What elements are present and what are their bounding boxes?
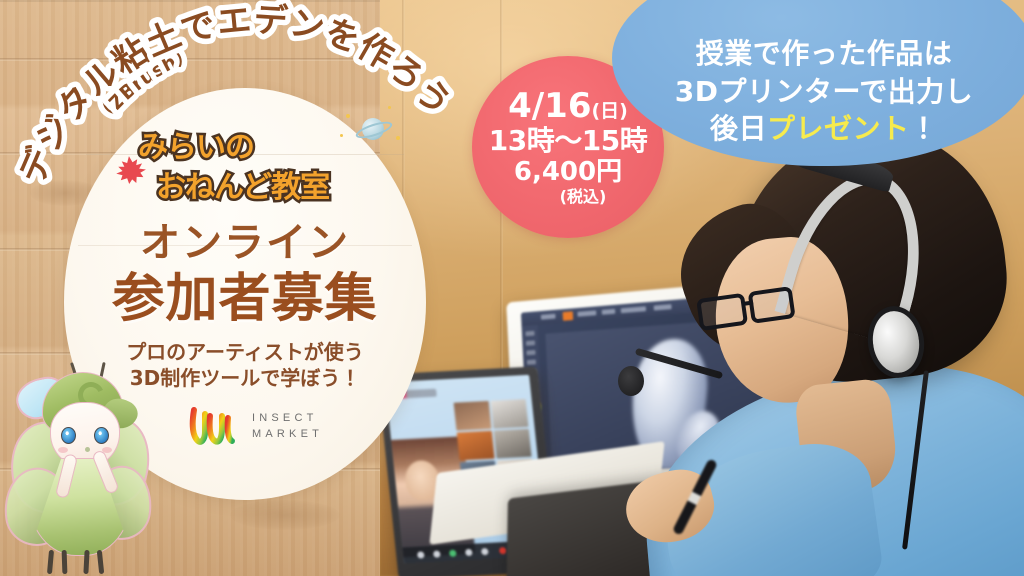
headline-recruitment: 参加者募集 <box>64 256 426 331</box>
badge-tax-note: (税込) <box>560 188 607 206</box>
bubble-line-3-prefix: 後日 <box>710 112 767 145</box>
badge-time: 13時〜15時 <box>489 124 647 157</box>
badge-weekday: (日) <box>592 100 628 122</box>
student-with-headset <box>624 120 1024 576</box>
brand-logo-line1: みらいの <box>138 122 400 166</box>
promo-banner: （ZBrush） デジタル粘土でエデンを作ろう みらいの おねんど教室 オンライ… <box>0 0 1024 576</box>
green-fairy-mascot <box>4 358 152 576</box>
bubble-line-3: 後日プレゼント！ <box>710 110 938 148</box>
bubble-line-3-suffix: ！ <box>910 112 939 145</box>
bubble-line-3-highlight: プレゼント <box>767 112 910 145</box>
insect-market-lu-mark-icon <box>188 406 240 446</box>
insect-market-logo: INSECT MARKET <box>188 402 348 450</box>
brand-logo: みらいの おねんど教室 <box>110 122 400 202</box>
microphone-icon <box>618 366 644 396</box>
bubble-line-2: 3Dプリンターで出力し <box>675 73 974 111</box>
badge-date-line: 4/16(日) <box>508 89 628 125</box>
badge-date: 4/16 <box>508 86 591 126</box>
sponsor-word-market: MARKET <box>252 428 323 440</box>
bubble-line-1: 授業で作った作品は <box>696 35 953 73</box>
microphone-boom <box>635 348 723 380</box>
sponsor-word-insect: INSECT <box>252 412 323 424</box>
badge-price: 6,400円 <box>514 157 622 187</box>
brand-logo-line2: おねんど教室 <box>156 162 400 206</box>
